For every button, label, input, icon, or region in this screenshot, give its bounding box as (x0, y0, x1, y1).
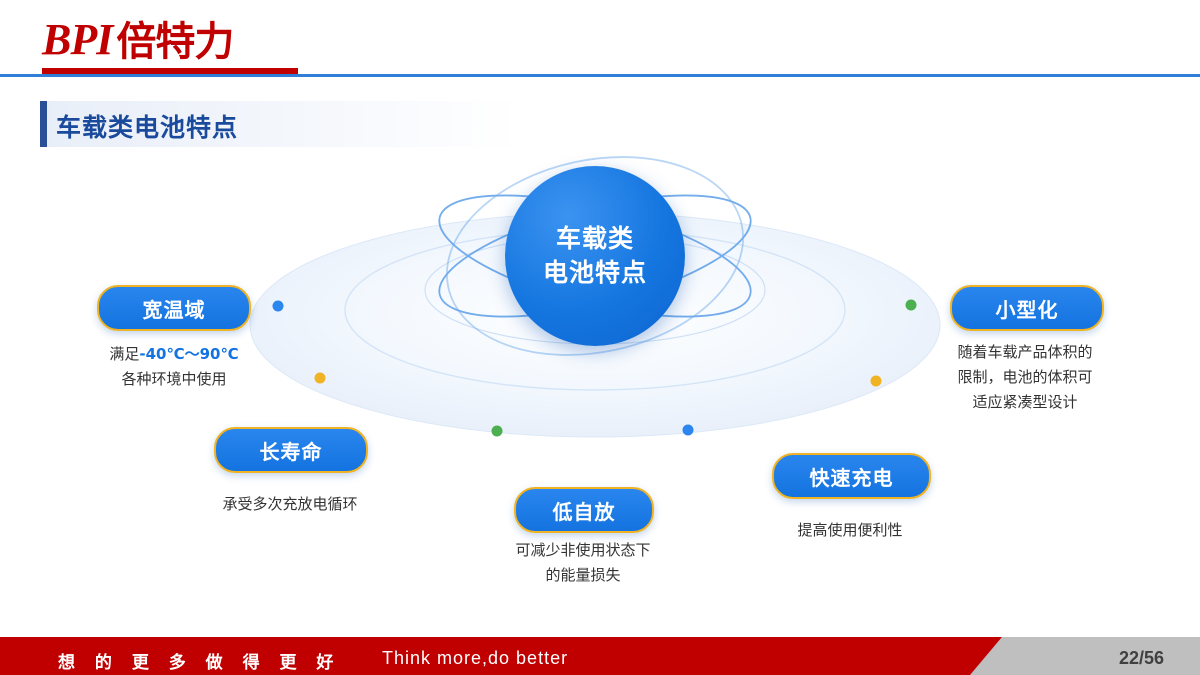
caption-line2: 的能量损失 (492, 563, 674, 588)
node-dot-4 (683, 425, 694, 436)
node-dot-1 (273, 301, 284, 312)
center-label-line2: 电池特点 (543, 256, 647, 290)
feature-pill-miniaturization[interactable]: 小型化 (950, 285, 1104, 331)
footer-wedge (970, 637, 1200, 675)
header-divider (0, 74, 1200, 77)
caption-line3: 适应紧凑型设计 (930, 390, 1120, 415)
caption-prefix: 满足 (109, 345, 139, 363)
caption-line1: 随着车载产品体积的 (930, 340, 1120, 365)
company-logo: BPI 倍特力 (42, 18, 233, 62)
feature-label: 快速充电 (810, 462, 894, 491)
feature-pill-fast-charging[interactable]: 快速充电 (772, 453, 931, 499)
page-title: 车载类电池特点 (56, 108, 238, 144)
node-dot-6 (906, 300, 917, 311)
feature-label: 宽温域 (143, 294, 206, 323)
footer-slogan-cn: 想 的 更 多 做 得 更 好 (58, 648, 340, 673)
caption-line2: 限制，电池的体积可 (930, 365, 1120, 390)
logo-text-cn: 倍特力 (116, 22, 233, 62)
logo-text-bpi: BPI (42, 18, 112, 62)
center-label-line1: 车载类 (556, 222, 634, 256)
footer-slogan-en: Think more,do better (382, 648, 568, 669)
center-node: 车载类 电池特点 (505, 166, 685, 346)
caption-line1: 可减少非使用状态下 (492, 538, 674, 563)
caption-line2: 各种环境中使用 (88, 367, 260, 392)
feature-label: 小型化 (996, 294, 1059, 323)
caption-line1: 提高使用便利性 (764, 518, 936, 543)
feature-caption-wide-temperature: 满足-40℃～90℃ 各种环境中使用 (88, 342, 260, 392)
feature-caption-miniaturization: 随着车载产品体积的 限制，电池的体积可 适应紧凑型设计 (930, 340, 1120, 414)
feature-pill-low-self-discharge[interactable]: 低自放 (514, 487, 654, 533)
caption-line1: 承受多次充放电循环 (192, 492, 388, 517)
feature-caption-long-life: 承受多次充放电循环 (192, 492, 388, 517)
slide: BPI 倍特力 车载类电池特点 (0, 0, 1200, 675)
feature-pill-long-life[interactable]: 长寿命 (214, 427, 368, 473)
feature-label: 长寿命 (260, 436, 323, 465)
feature-label: 低自放 (553, 496, 616, 525)
feature-pill-wide-temperature[interactable]: 宽温域 (97, 285, 251, 331)
node-dot-5 (871, 376, 882, 387)
feature-caption-low-self-discharge: 可减少非使用状态下 的能量损失 (492, 538, 674, 588)
node-dot-3 (492, 426, 503, 437)
node-dot-2 (315, 373, 326, 384)
page-number: 22/56 (1119, 648, 1164, 669)
feature-caption-fast-charging: 提高使用便利性 (764, 518, 936, 543)
caption-accent-value: -40℃～90℃ (139, 345, 238, 363)
